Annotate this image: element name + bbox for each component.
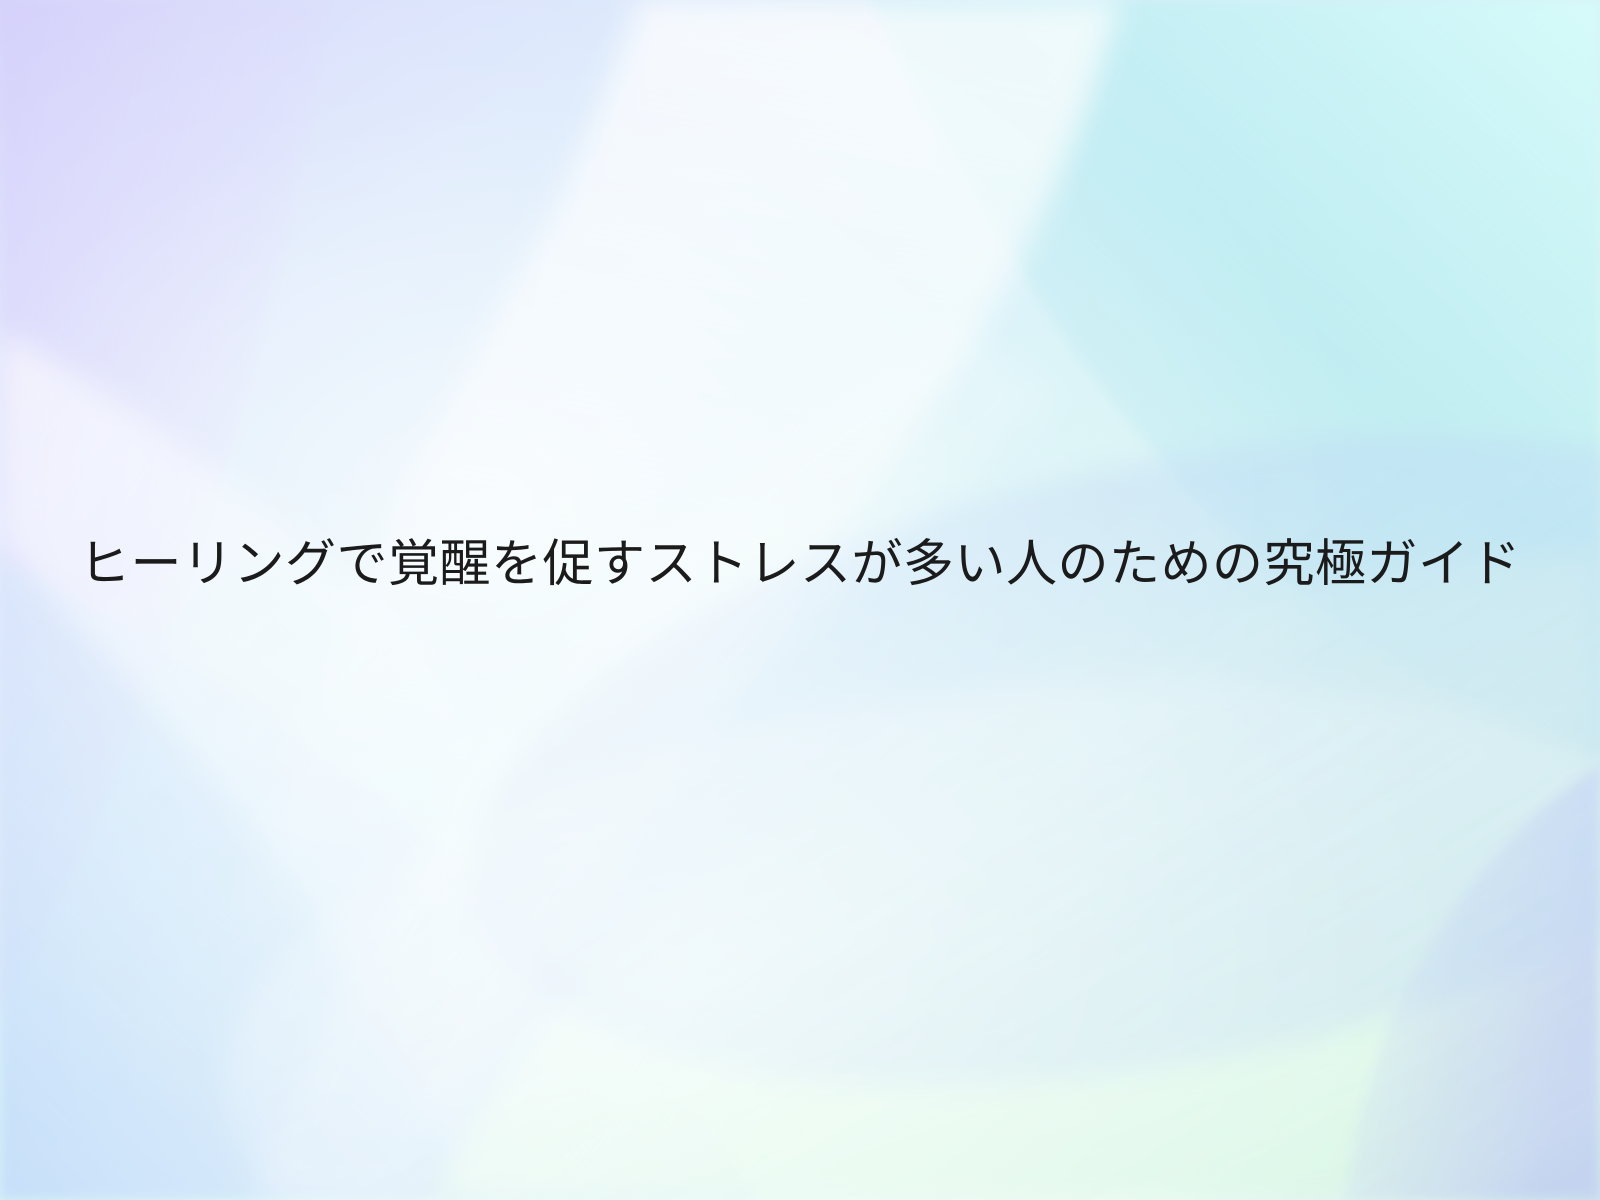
background-artwork bbox=[0, 0, 1600, 1200]
slide-canvas: ヒーリングで覚醒を促すストレスが多い人のための究極ガイド bbox=[0, 0, 1600, 1200]
glow-bottom bbox=[0, 0, 1600, 1200]
